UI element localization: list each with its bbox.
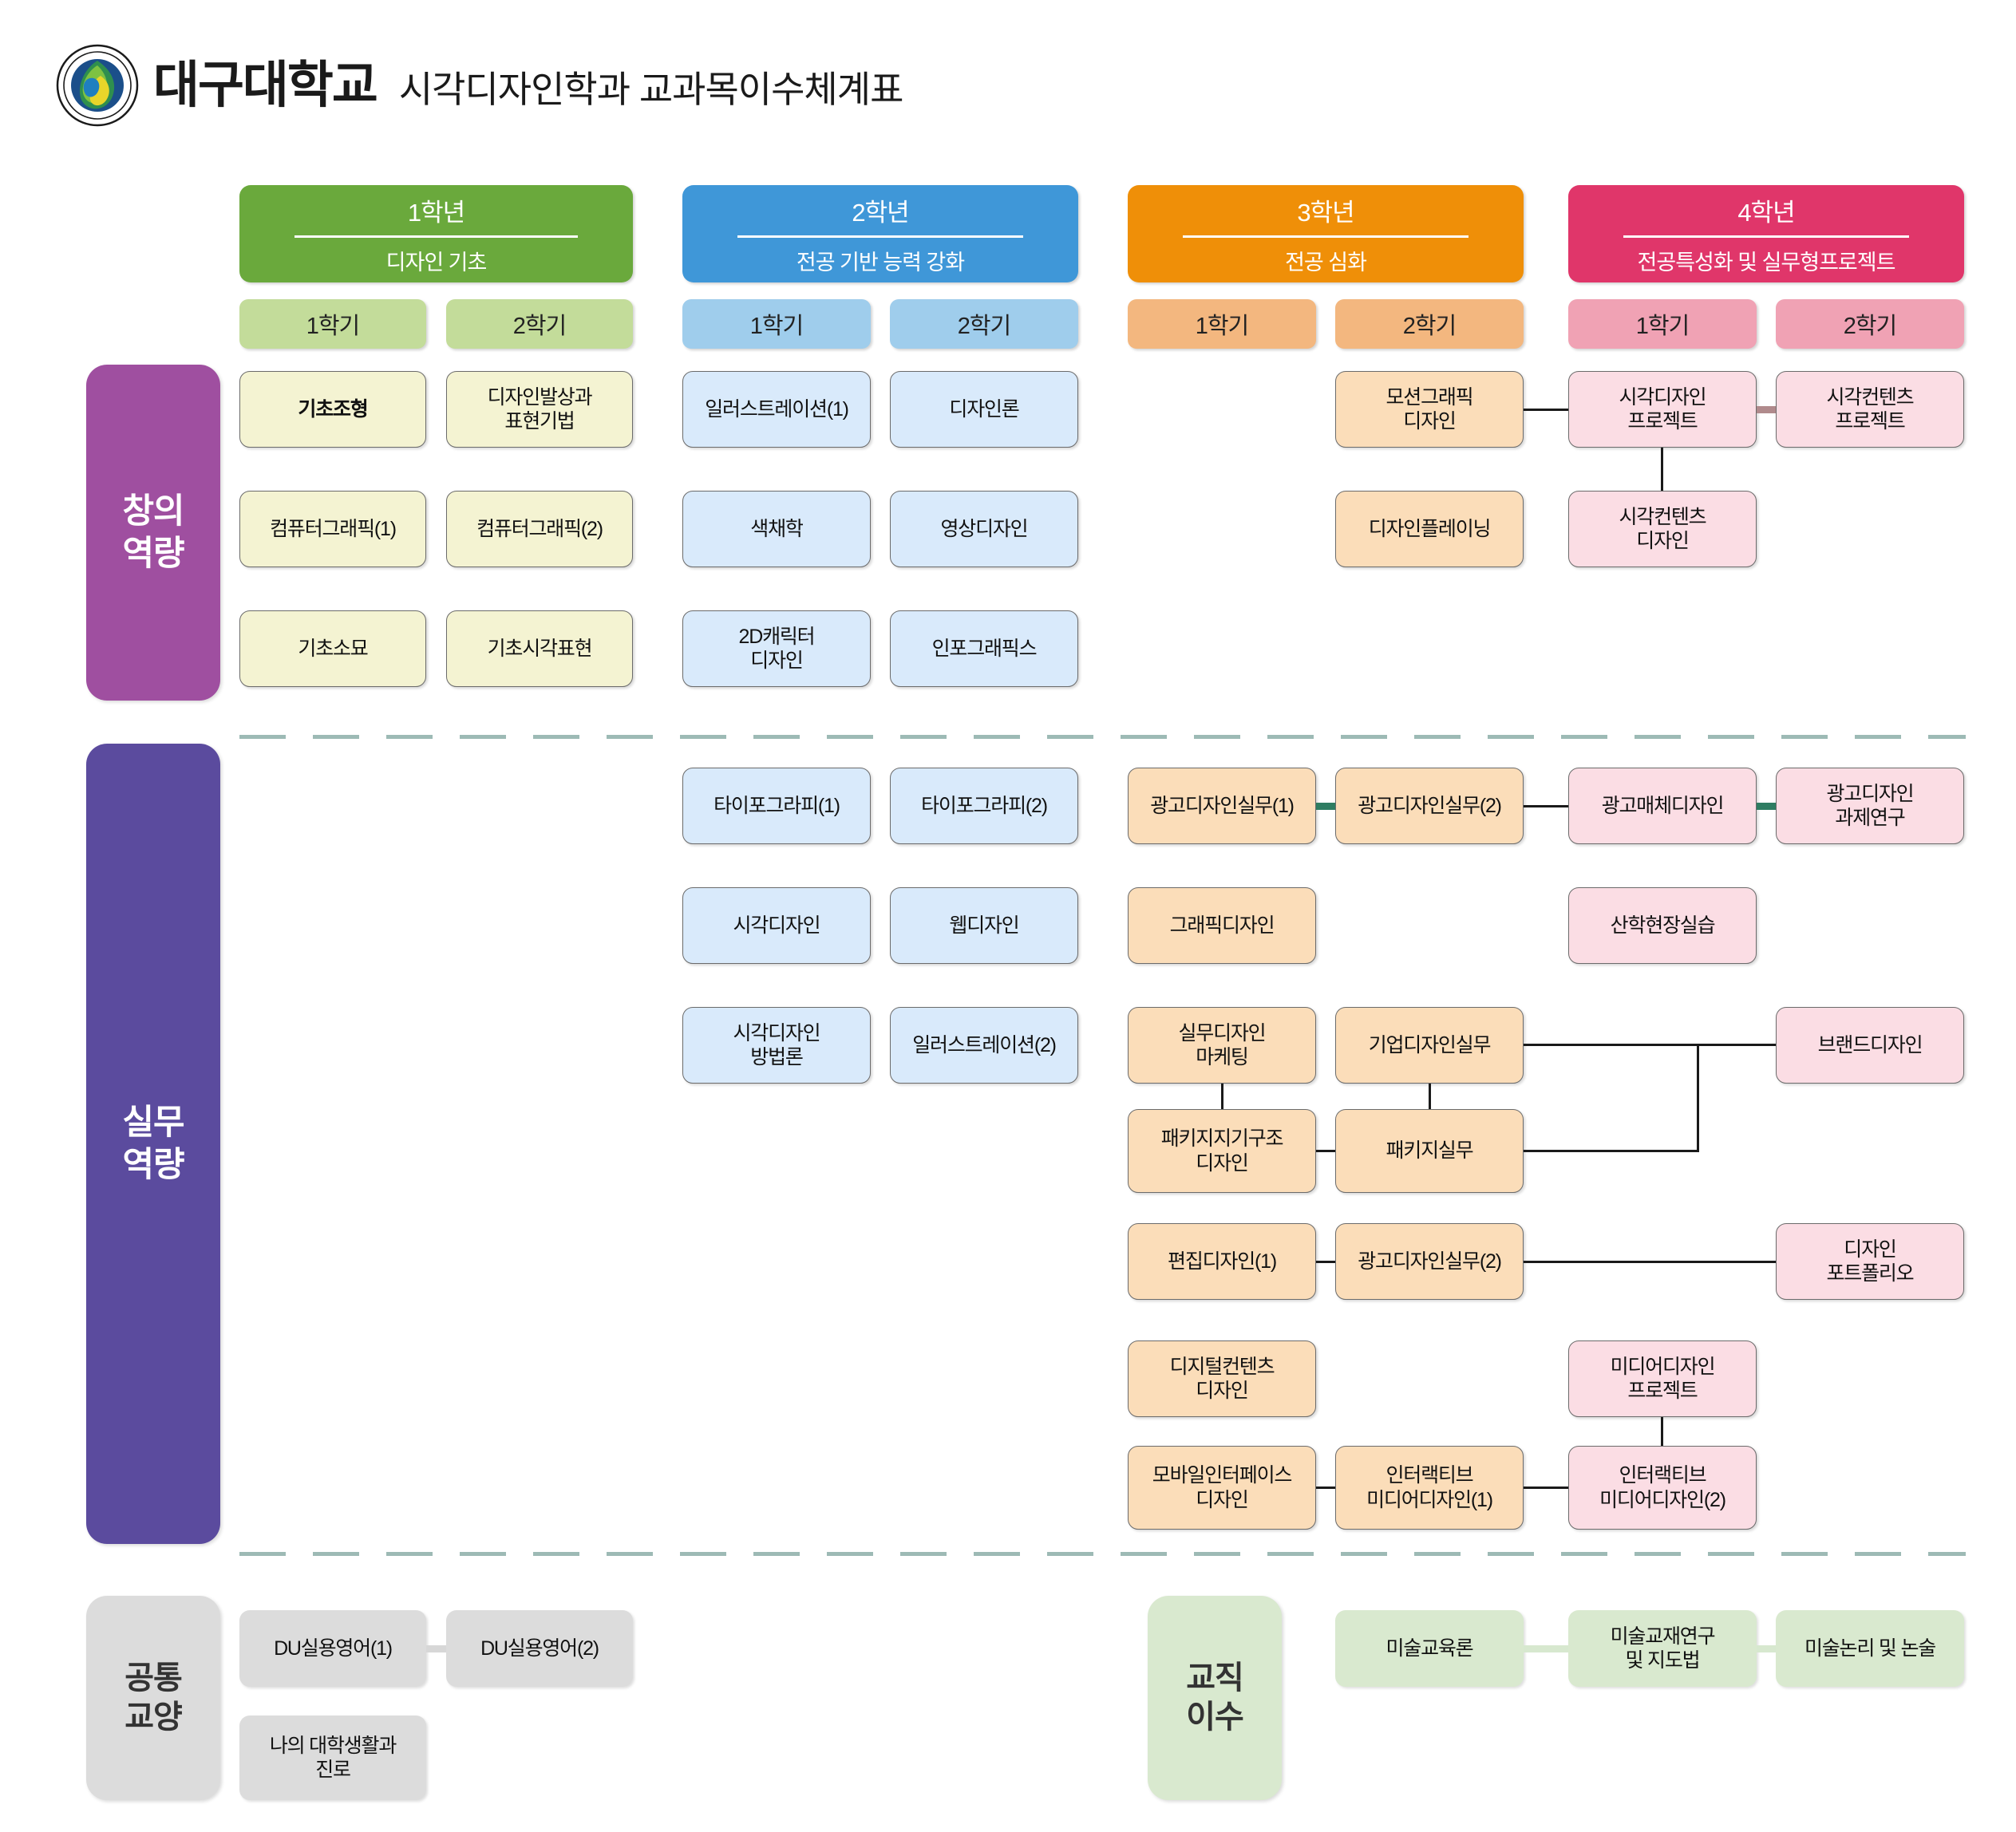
- connector-line: [1316, 1150, 1335, 1152]
- course-box[interactable]: DU실용영어(2): [446, 1610, 633, 1687]
- course-box[interactable]: 미디어디자인 프로젝트: [1568, 1340, 1757, 1417]
- course-box[interactable]: 디자인발상과 표현기법: [446, 371, 633, 448]
- course-box[interactable]: 타이포그라피(1): [682, 768, 871, 844]
- course-box[interactable]: 산학현장실습: [1568, 887, 1757, 964]
- university-name: 대구대학교: [153, 61, 377, 111]
- connector-line: [1524, 1150, 1699, 1152]
- connector-line: [1697, 1044, 1776, 1046]
- course-box[interactable]: 타이포그라피(2): [890, 768, 1078, 844]
- category-bar-creative: 창의 역량: [86, 365, 220, 701]
- course-box[interactable]: DU실용영어(1): [239, 1610, 426, 1687]
- semester-pill-y2s1[interactable]: 1학기: [682, 299, 871, 349]
- connector-line: [1661, 448, 1663, 491]
- connector-line: [1221, 1084, 1223, 1109]
- course-box[interactable]: 광고디자인실무(2): [1335, 768, 1524, 844]
- course-box[interactable]: 영상디자인: [890, 491, 1078, 567]
- course-box[interactable]: 일러스트레이션(2): [890, 1007, 1078, 1084]
- course-box[interactable]: 모바일인터페이스 디자인: [1128, 1446, 1316, 1530]
- page-header: 대구대학교 시각디자인학과 교과목이수체계표: [56, 44, 903, 127]
- section-divider-top: [239, 735, 1966, 739]
- connector-line: [1316, 1487, 1335, 1489]
- page-title: 시각디자인학과 교과목이수체계표: [391, 63, 903, 108]
- connector-line: [1316, 1261, 1335, 1263]
- year-header-4: 4학년 전공특성화 및 실무형프로젝트: [1568, 185, 1964, 282]
- course-box[interactable]: 나의 대학생활과 진로: [239, 1716, 426, 1800]
- connector-line: [1524, 1044, 1699, 1046]
- semester-pill-y1s2[interactable]: 2학기: [446, 299, 633, 349]
- curriculum-chart: 대구대학교 시각디자인학과 교과목이수체계표 1학년 디자인 기초 2학년 전공…: [0, 0, 2016, 1832]
- year-theme: 전공특성화 및 실무형프로젝트: [1638, 245, 1895, 276]
- course-box[interactable]: 인터랙티브 미디어디자인(1): [1335, 1446, 1524, 1530]
- course-box[interactable]: 색채학: [682, 491, 871, 567]
- year-header-3: 3학년 전공 심화: [1128, 185, 1524, 282]
- year-theme: 디자인 기초: [386, 245, 487, 276]
- category-bar-practical: 실무 역량: [86, 744, 220, 1544]
- course-box[interactable]: 웹디자인: [890, 887, 1078, 964]
- course-box[interactable]: 편집디자인(1): [1128, 1223, 1316, 1300]
- connector-line: [1757, 1645, 1776, 1652]
- course-box[interactable]: 인터랙티브 미디어디자인(2): [1568, 1446, 1757, 1530]
- year-header-1: 1학년 디자인 기초: [239, 185, 633, 282]
- category-bar-common: 공통 교양: [86, 1596, 220, 1800]
- course-box[interactable]: 패키지지기구조 디자인: [1128, 1109, 1316, 1193]
- connector-line: [1757, 803, 1776, 810]
- semester-pill-y2s2[interactable]: 2학기: [890, 299, 1078, 349]
- year-theme: 전공 기반 능력 강화: [797, 245, 964, 276]
- course-box[interactable]: 기초조형: [239, 371, 426, 448]
- course-box[interactable]: 브랜드디자인: [1776, 1007, 1964, 1084]
- connector-line: [426, 1645, 446, 1652]
- connector-line: [1524, 1645, 1568, 1652]
- course-box[interactable]: 기업디자인실무: [1335, 1007, 1524, 1084]
- course-box[interactable]: 디자인 포트폴리오: [1776, 1223, 1964, 1300]
- course-box[interactable]: 모션그래픽 디자인: [1335, 371, 1524, 448]
- connector-line: [1757, 406, 1776, 413]
- course-box[interactable]: 인포그래픽스: [890, 610, 1078, 687]
- course-box[interactable]: 광고디자인실무(1): [1128, 768, 1316, 844]
- course-box[interactable]: 시각컨텐츠 프로젝트: [1776, 371, 1964, 448]
- course-box[interactable]: 광고매체디자인: [1568, 768, 1757, 844]
- course-box[interactable]: 컴퓨터그래픽(1): [239, 491, 426, 567]
- course-box[interactable]: 미술논리 및 논술: [1776, 1610, 1964, 1687]
- divider-rule: [1623, 235, 1908, 238]
- course-box[interactable]: 디자인플레이닝: [1335, 491, 1524, 567]
- connector-line: [1429, 1084, 1431, 1109]
- course-box[interactable]: 기초시각표현: [446, 610, 633, 687]
- course-box[interactable]: 컴퓨터그래픽(2): [446, 491, 633, 567]
- divider-rule: [294, 235, 578, 238]
- connector-line: [1661, 1417, 1663, 1446]
- semester-pill-y4s2[interactable]: 2학기: [1776, 299, 1964, 349]
- divider-rule: [737, 235, 1022, 238]
- category-bar-teaching: 교직 이수: [1148, 1596, 1282, 1800]
- year-label: 3학년: [1297, 192, 1354, 228]
- section-divider-bottom: [239, 1552, 1966, 1556]
- connector-line: [1316, 803, 1335, 810]
- semester-pill-y1s1[interactable]: 1학기: [239, 299, 426, 349]
- connector-line: [1524, 805, 1568, 807]
- semester-pill-y3s2[interactable]: 2학기: [1335, 299, 1524, 349]
- connector-line: [1524, 1487, 1568, 1489]
- university-crest-icon: [56, 44, 139, 127]
- connector-line: [1697, 1044, 1699, 1152]
- course-box[interactable]: 패키지실무: [1335, 1109, 1524, 1193]
- course-box[interactable]: 그래픽디자인: [1128, 887, 1316, 964]
- course-box[interactable]: 광고디자인 과제연구: [1776, 768, 1964, 844]
- connector-line: [1524, 409, 1568, 411]
- year-label: 2학년: [852, 192, 908, 228]
- year-theme: 전공 심화: [1285, 245, 1366, 276]
- course-box[interactable]: 미술교육론: [1335, 1610, 1524, 1687]
- course-box[interactable]: 디지털컨텐츠 디자인: [1128, 1340, 1316, 1417]
- course-box[interactable]: 실무디자인 마케팅: [1128, 1007, 1316, 1084]
- course-box[interactable]: 일러스트레이션(1): [682, 371, 871, 448]
- year-label: 4학년: [1737, 192, 1794, 228]
- course-box[interactable]: 시각디자인 프로젝트: [1568, 371, 1757, 448]
- year-header-2: 2학년 전공 기반 능력 강화: [682, 185, 1078, 282]
- course-box[interactable]: 시각디자인 방법론: [682, 1007, 871, 1084]
- divider-rule: [1183, 235, 1468, 238]
- semester-pill-y3s1[interactable]: 1학기: [1128, 299, 1316, 349]
- course-box[interactable]: 미술교재연구 및 지도법: [1568, 1610, 1757, 1687]
- connector-line: [1524, 1261, 1776, 1263]
- course-box[interactable]: 기초소묘: [239, 610, 426, 687]
- course-box[interactable]: 시각디자인: [682, 887, 871, 964]
- year-label: 1학년: [408, 192, 464, 228]
- course-box[interactable]: 광고디자인실무(2): [1335, 1223, 1524, 1300]
- course-box[interactable]: 디자인론: [890, 371, 1078, 448]
- course-box[interactable]: 2D캐릭터 디자인: [682, 610, 871, 687]
- semester-pill-y4s1[interactable]: 1학기: [1568, 299, 1757, 349]
- course-box[interactable]: 시각컨텐츠 디자인: [1568, 491, 1757, 567]
